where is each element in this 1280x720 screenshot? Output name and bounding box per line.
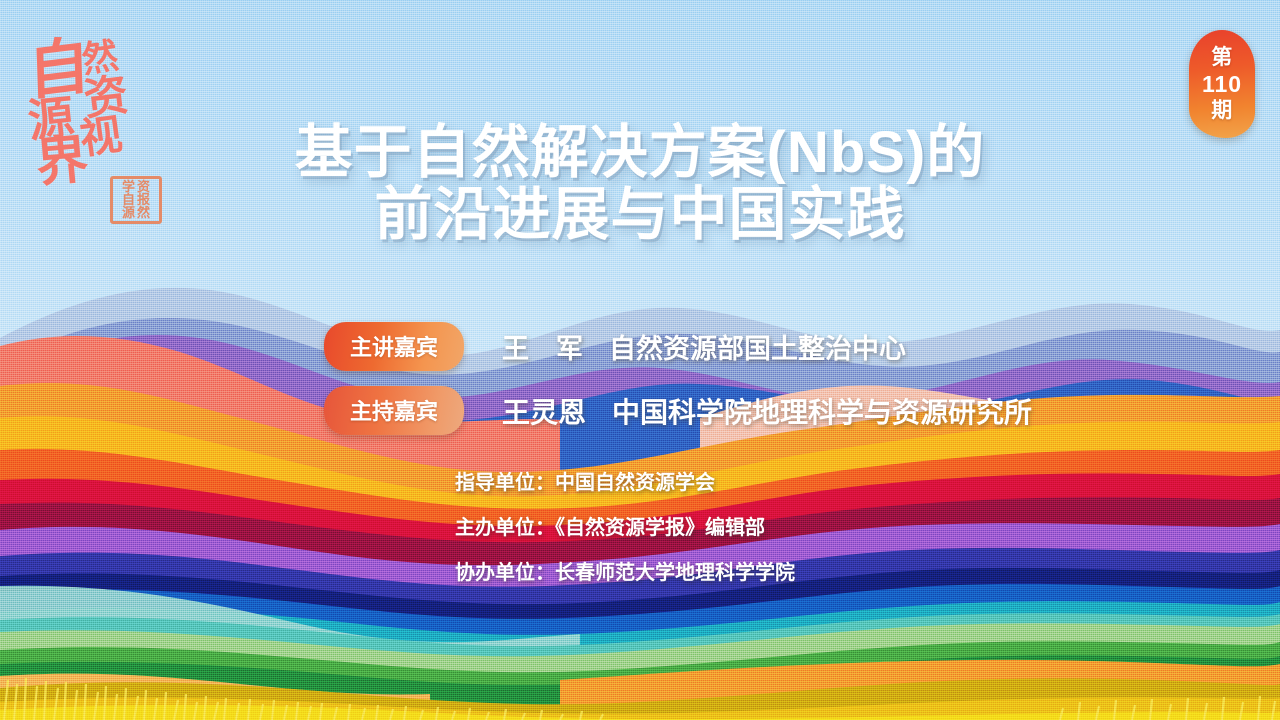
title-line-2: 前沿进展与中国实践 [0,184,1280,246]
org-line-guidance: 指导单位：中国自然资源学会 [455,472,795,494]
poster-canvas: 自 然 资 源 视 界 学 资 自 报 源 然 第 110 期 基于自然解决方案… [0,0,1280,720]
role-badge-presenter: 主讲嘉宾 [324,322,464,371]
role-badge-host: 主持嘉宾 [324,386,464,435]
presenter-name: 王 军 [502,327,583,366]
issue-suffix: 期 [1211,98,1233,123]
org-line-host: 主办单位：《自然资源学报》编辑部 [455,517,795,539]
issue-number: 110 [1202,71,1242,97]
speaker-row-host: 主持嘉宾 王灵恩 中国科学院地理科学与资源研究所 [324,386,1032,435]
org-line-co-host: 协办单位：长春师范大学地理科学学院 [455,562,795,584]
presenter-affiliation: 自然资源部国土整治中心 [609,327,906,366]
wheat-texture [0,672,1280,720]
host-affiliation: 中国科学院地理科学与资源研究所 [612,391,1032,431]
page-title: 基于自然解决方案(NbS)的 前沿进展与中国实践 [0,122,1280,246]
issue-prefix: 第 [1211,45,1233,70]
title-line-1: 基于自然解决方案(NbS)的 [0,122,1280,184]
host-name: 王灵恩 [502,391,586,431]
organization-list: 指导单位：中国自然资源学会 主办单位：《自然资源学报》编辑部 协办单位：长春师范… [455,472,795,584]
speaker-row-presenter: 主讲嘉宾 王 军 自然资源部国土整治中心 [324,322,906,371]
